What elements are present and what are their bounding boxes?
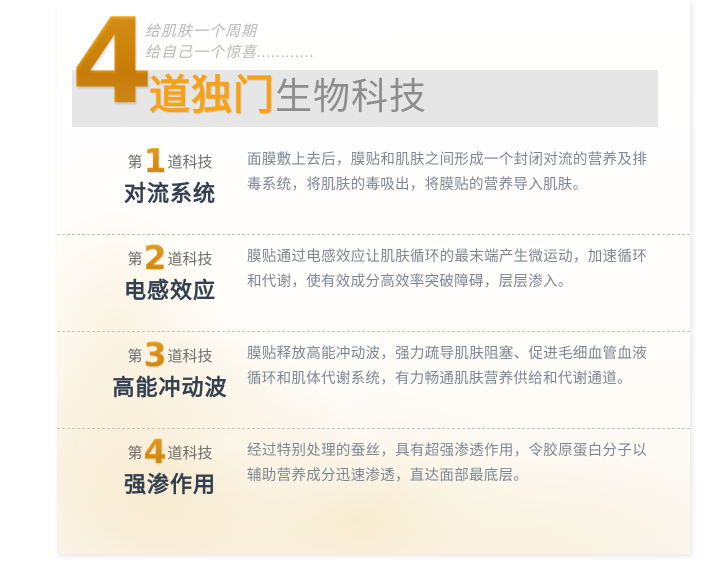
tech-label-prefix: 第: [128, 445, 143, 462]
tech-row-title: 对流系统: [85, 179, 255, 209]
tech-label-number: 1: [143, 141, 168, 180]
tech-row-label: 第2道科技: [85, 243, 255, 275]
tech-label-number: 2: [143, 238, 168, 277]
tech-row-label: 第1道科技: [85, 146, 255, 178]
page-stage: 4 4 给肌肤一个周期 给自己一个惊喜………… 道独门生物科技 第1道科技 对流…: [0, 0, 726, 582]
headline-orange-text: 道独门: [149, 72, 275, 118]
header-banner: 4 4 给肌肤一个周期 给自己一个惊喜………… 道独门生物科技: [57, 0, 690, 132]
tech-row: 第3道科技 高能冲动波 膜贴释放高能冲动波，强力疏导肌肤阻塞、促进毛细血管血液循…: [57, 331, 690, 428]
tech-row-left-column: 第3道科技 高能冲动波: [85, 340, 255, 403]
tech-row-body: 膜贴释放高能冲动波，强力疏导肌肤阻塞、促进毛细血管血液循环和肌体代谢系统，有力畅…: [247, 342, 647, 392]
big-number-4: 4: [71, 2, 149, 120]
tech-row: 第1道科技 对流系统 面膜敷上去后，膜贴和肌肤之间形成一个封闭对流的营养及排毒系…: [57, 138, 690, 234]
tech-label-suffix: 道科技: [167, 348, 212, 365]
tech-label-prefix: 第: [128, 154, 143, 171]
tech-row-body: 面膜敷上去后，膜贴和肌肤之间形成一个封闭对流的营养及排毒系统，将肌肤的毒吸出，将…: [247, 148, 647, 198]
header-subtitle-line-1: 给肌肤一个周期: [145, 22, 314, 43]
tech-row-title: 电感效应: [85, 276, 255, 306]
tech-row-left-column: 第1道科技 对流系统: [85, 146, 255, 209]
tech-label-number: 4: [143, 432, 168, 471]
tech-row-label: 第4道科技: [85, 437, 255, 469]
tech-label-number: 3: [143, 335, 168, 374]
tech-row-title: 高能冲动波: [85, 373, 255, 403]
tech-list: 第1道科技 对流系统 面膜敷上去后，膜贴和肌肤之间形成一个封闭对流的营养及排毒系…: [57, 138, 690, 525]
tech-row: 第2道科技 电感效应 膜贴通过电感效应让肌肤循环的最末端产生微运动，加速循环和代…: [57, 234, 690, 331]
tech-row-body: 膜贴通过电感效应让肌肤循环的最末端产生微运动，加速循环和代谢，使有效成分高效率突…: [247, 245, 647, 295]
tech-row-label: 第3道科技: [85, 340, 255, 372]
tech-label-suffix: 道科技: [167, 251, 212, 268]
tech-row-left-column: 第2道科技 电感效应: [85, 243, 255, 306]
tech-label-prefix: 第: [128, 348, 143, 365]
tech-row: 第4道科技 强渗作用 经过特别处理的蚕丝，具有超强渗透作用，令胶原蛋白分子以辅助…: [57, 428, 690, 525]
content-panel: 4 4 给肌肤一个周期 给自己一个惊喜………… 道独门生物科技 第1道科技 对流…: [57, 0, 690, 554]
headline-gray-text: 生物科技: [275, 76, 427, 117]
header-subtitle: 给肌肤一个周期 给自己一个惊喜…………: [145, 22, 314, 64]
tech-row-title: 强渗作用: [85, 470, 255, 500]
tech-label-suffix: 道科技: [167, 154, 212, 171]
tech-row-body: 经过特别处理的蚕丝，具有超强渗透作用，令胶原蛋白分子以辅助营养成分迅速渗透，直达…: [247, 439, 647, 489]
header-subtitle-line-2: 给自己一个惊喜…………: [145, 43, 314, 64]
headline: 道独门生物科技: [149, 66, 427, 126]
tech-row-left-column: 第4道科技 强渗作用: [85, 437, 255, 500]
tech-label-prefix: 第: [128, 251, 143, 268]
tech-label-suffix: 道科技: [167, 445, 212, 462]
